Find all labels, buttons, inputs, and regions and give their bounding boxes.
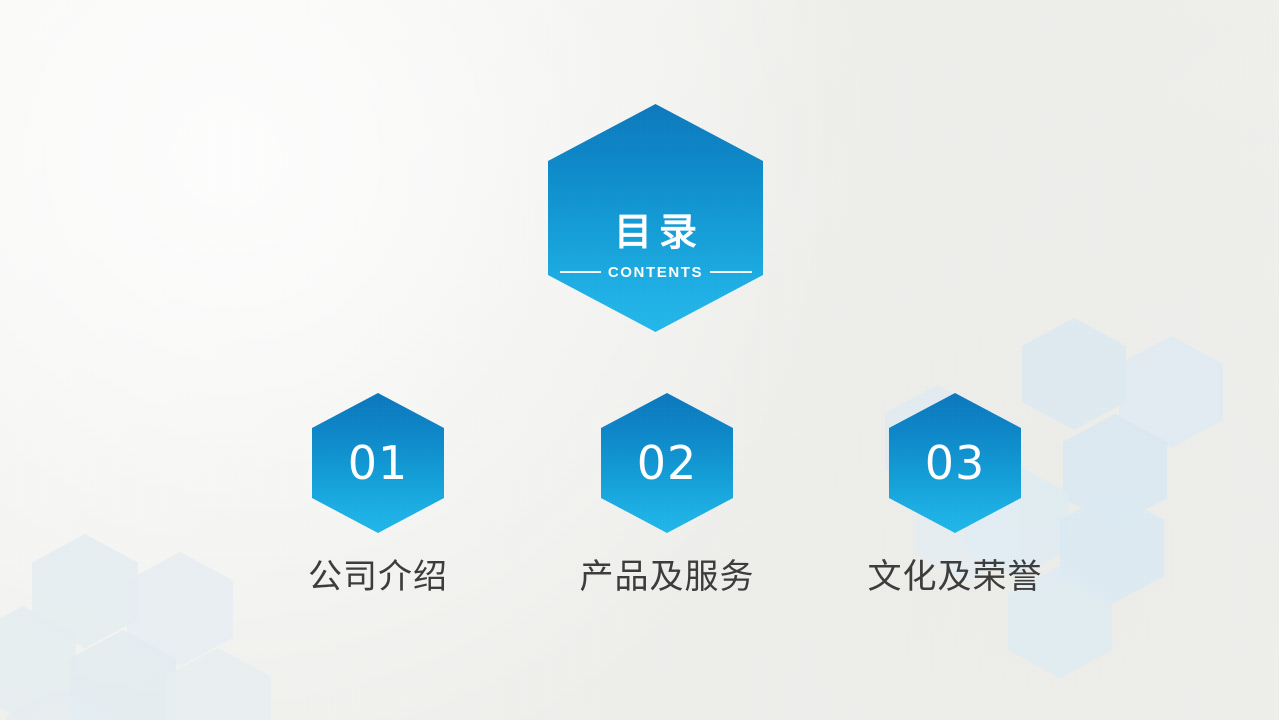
subtitle-row: CONTENTS [560,265,752,280]
section-label-01[interactable]: 公司介绍 [248,556,508,599]
honeycomb-bottom-left-decoration [0,0,1279,720]
decor-hexagon [6,688,112,720]
decor-hexagon [1119,336,1223,448]
decor-hexagon [165,648,271,720]
section-hexagon-01[interactable]: 01 [312,393,444,533]
section-hexagon-03[interactable]: 03 [889,393,1021,533]
page-title: 目录 [607,213,704,251]
subtitle-rule-right [710,271,751,273]
decor-hexagon [32,534,138,648]
section-hexagon-02[interactable]: 02 [601,393,733,533]
decor-hexagon [0,606,76,720]
section-number: 02 [637,440,698,486]
decor-hexagon [127,552,233,666]
subtitle-rule-left [560,271,601,273]
decor-hexagon [1063,414,1167,526]
section-label-03[interactable]: 文化及荣誉 [825,556,1085,599]
section-label-02[interactable]: 产品及服务 [537,556,797,599]
decor-hexagon [70,630,176,720]
slide-canvas: 目录 CONTENTS 01 02 03 公司介绍 产品及服务 文化及荣誉 [0,0,1279,720]
section-number: 01 [348,440,409,486]
contents-title-hexagon: 目录 CONTENTS [548,104,763,332]
section-number: 03 [925,440,986,486]
page-subtitle: CONTENTS [601,265,710,280]
honeycomb-right-decoration [0,0,1279,720]
decor-hexagon [1022,318,1126,430]
